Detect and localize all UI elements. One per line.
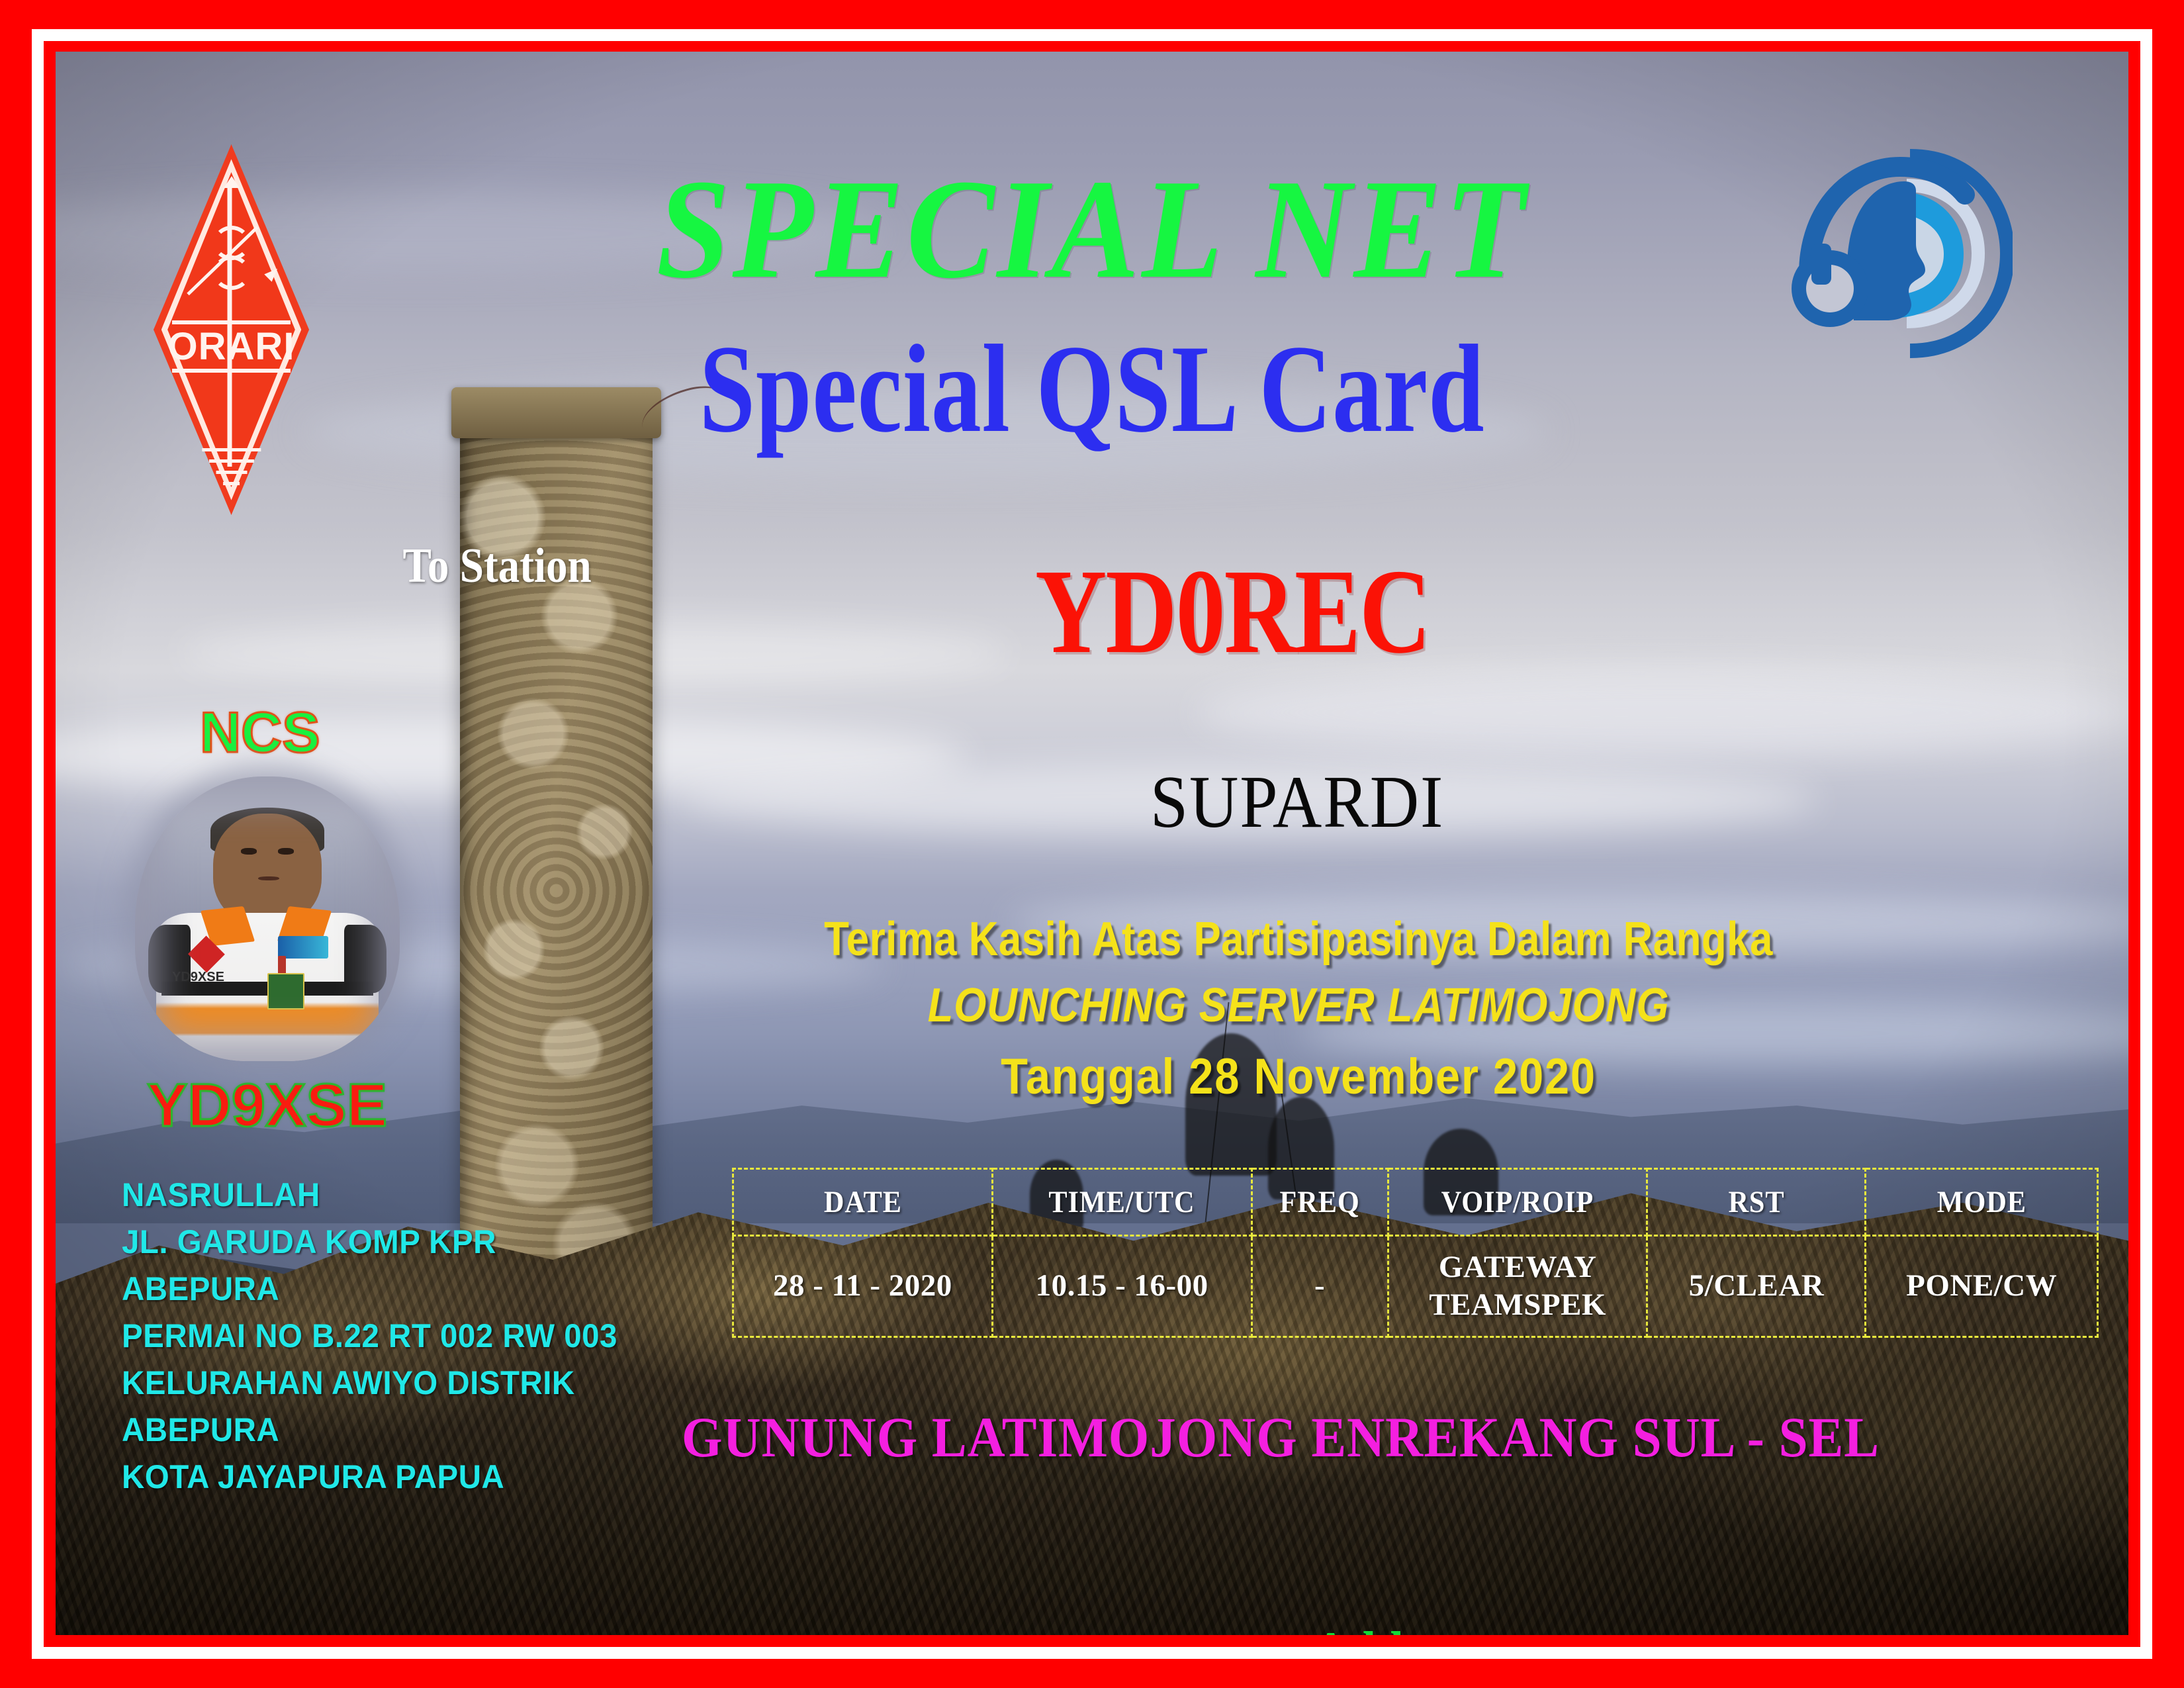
- address-line: KELURAHAN AWIYO DISTRIK: [122, 1360, 617, 1407]
- cell-mode: PONE/CW: [1866, 1236, 2098, 1337]
- station-callsign: YD0REC: [1035, 542, 1430, 681]
- background-photo: ORARI: [56, 52, 2128, 1635]
- col-header-date: DATE: [746, 1169, 979, 1236]
- cell-freq: -: [1251, 1236, 1388, 1337]
- cell-voip-line2: TEAMSPEK: [1429, 1288, 1606, 1322]
- cell-voip: GATEWAY TEAMSPEK: [1388, 1236, 1647, 1337]
- page-title-special-net: SPECIAL NET: [128, 158, 2056, 300]
- address-line: PERMAI NO B.22 RT 002 RW 003: [122, 1313, 617, 1360]
- operator-photo: YD9XSE: [135, 776, 400, 1061]
- table-row: 28 - 11 - 2020 10.15 - 16-00 - GATEWAY T…: [733, 1236, 2098, 1337]
- message-line-1: Terima Kasih Atas Partisipasinya Dalam R…: [407, 912, 2128, 966]
- cell-voip-line1: GATEWAY: [1439, 1250, 1597, 1284]
- address-line: JL. GARUDA KOMP KPR: [122, 1219, 617, 1266]
- ncs-label: NCS: [200, 700, 320, 766]
- col-header-freq: FREQ: [1258, 1169, 1381, 1236]
- col-header-rst: RST: [1658, 1169, 1854, 1236]
- message-line-2: LOUNCHING SERVER LATIMOJONG: [387, 978, 2128, 1033]
- col-header-mode: MODE: [1877, 1169, 2086, 1236]
- qso-data-table: DATE TIME/UTC FREQ VOIP/ROIP RST MODE 28…: [732, 1168, 2099, 1338]
- cell-date: 28 - 11 - 2020: [733, 1236, 993, 1337]
- ncs-callsign: YD9XSE: [147, 1071, 387, 1141]
- operator-name: SUPARDI: [343, 760, 2128, 845]
- address-line: NASRULLAH: [122, 1172, 617, 1219]
- footer-motto: "AMATIR RADIO ADALAH PROGRESIVE": [139, 1620, 1136, 1635]
- address-line: ABEPURA: [122, 1266, 617, 1313]
- col-header-time: TIME/UTC: [1005, 1169, 1239, 1236]
- qsl-card: ORARI: [0, 0, 2184, 1688]
- location-caption: GUNUNG LATIMOJONG ENREKANG SUL - SEL: [327, 1404, 2128, 1470]
- cell-time: 10.15 - 16-00: [992, 1236, 1251, 1337]
- table-header-row: DATE TIME/UTC FREQ VOIP/ROIP RST MODE: [733, 1169, 2098, 1236]
- cell-rst: 5/CLEAR: [1647, 1236, 1866, 1337]
- page-subtitle-qsl-card: Special QSL Card: [263, 326, 1921, 452]
- to-station-label: To Station: [402, 538, 591, 594]
- footer-web-address: Address : amatir.latimojong.com: [1313, 1619, 1998, 1635]
- message-line-3: Tanggal 28 November 2020: [387, 1048, 2128, 1105]
- col-header-voip: VOIP/ROIP: [1401, 1169, 1635, 1236]
